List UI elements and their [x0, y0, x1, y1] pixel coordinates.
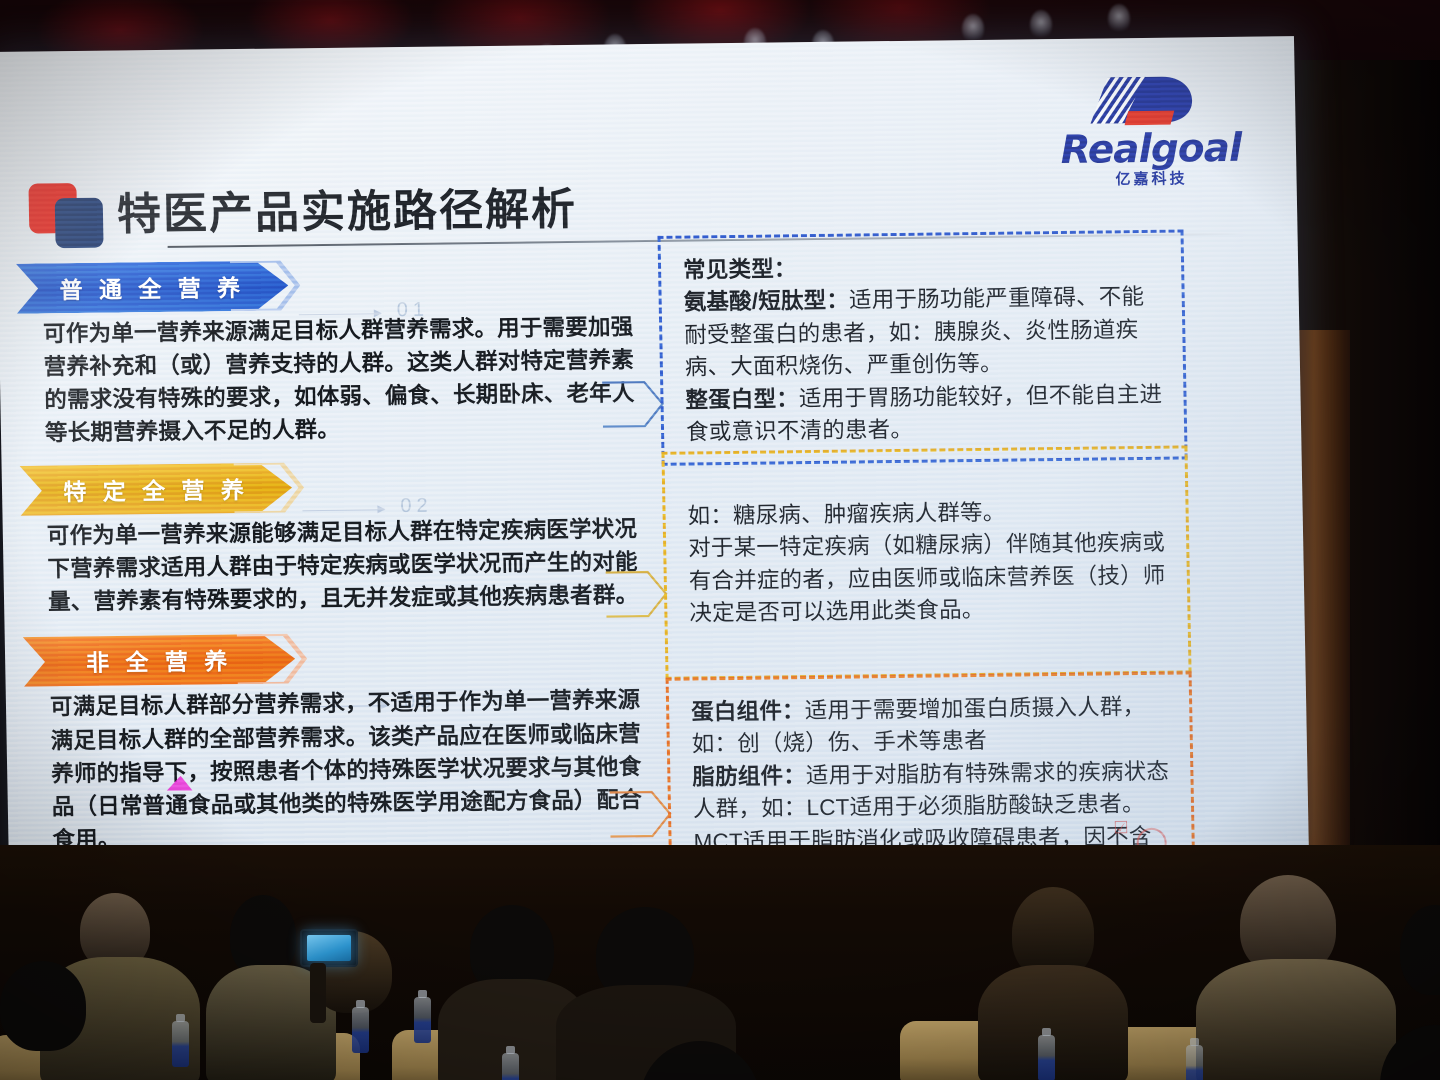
detail-box-1: 常见类型： 氨基酸/短肽型：适用于肠功能严重障碍、不能耐受整蛋白的患者，如：胰腺…: [657, 229, 1187, 466]
section-banner-3-label: 非 全 营 养: [86, 643, 233, 679]
section-banner-2-label: 特 定 全 营 养: [63, 471, 249, 507]
section-body-1: 可作为单一营养来源满足目标人群营养需求。用于需要加强营养补充和（或）营养支持的人…: [0, 306, 645, 450]
connector-chevron-3: [608, 784, 673, 845]
detail-box-3-line-2-label: 脂肪组件：: [692, 763, 806, 789]
attendee-arm: [310, 963, 326, 1023]
detail-box-1-line-2: 氨基酸/短肽型：适用于肠功能严重障碍、不能耐受整蛋白的患者，如：胰腺炎、炎性肠道…: [683, 281, 1165, 384]
section-banner-1-label: 普 通 全 营 养: [59, 269, 245, 305]
detail-box-2-line-2: 对于某一特定疾病（如糖尿病）伴随其他疾病或有合并症的者，应由医师或临床营养医（技…: [688, 527, 1170, 630]
company-logo: Realgoal 亿嘉科技: [1050, 72, 1252, 179]
detail-box-1-line-1-label: 常见类型：: [683, 256, 797, 282]
attendee-head: [0, 961, 86, 1051]
connector-chevron-1: [600, 374, 665, 435]
section-body-2: 可作为单一营养来源能够满足目标人群在特定疾病医学状况下营养需求适用人群由于特定疾…: [3, 508, 649, 619]
detail-box-3-line-1: 蛋白组件：适用于需要增加蛋白质摄入人群，如：创（烧）伤、手术等患者: [691, 691, 1172, 762]
section-banner-2: 特 定 全 营 养: [20, 463, 293, 516]
water-bottle: [352, 1007, 369, 1053]
presentation-slide: Realgoal 亿嘉科技 特医产品实施路径解析 01 02 03: [0, 36, 1309, 874]
logo-wordmark: Realgoal: [1051, 131, 1252, 169]
realgoal-r-icon: [1050, 72, 1251, 132]
water-bottle: [1186, 1045, 1203, 1080]
section-banner-1: 普 通 全 营 养: [16, 260, 289, 313]
attendee-phone: [300, 929, 358, 967]
connector-chevron-2: [603, 564, 668, 625]
detail-box-2: 如：糖尿病、肿瘤疾病人群等。 对于某一特定疾病（如糖尿病）伴随其他疾病或有合并症…: [661, 445, 1191, 679]
auditorium-photo: Realgoal 亿嘉科技 特医产品实施路径解析 01 02 03: [0, 0, 1440, 1080]
projection-screen: Realgoal 亿嘉科技 特医产品实施路径解析 01 02 03: [0, 36, 1309, 882]
water-bottle: [172, 1021, 189, 1067]
detail-box-3-line-1-label: 蛋白组件：: [691, 698, 805, 724]
detail-box-3: 蛋白组件：适用于需要增加蛋白质摄入人群，如：创（烧）伤、手术等患者 脂肪组件：适…: [666, 671, 1196, 873]
detail-box-1-line-2-label: 氨基酸/短肽型：: [683, 288, 849, 315]
page-title: 特医产品实施路径解析: [116, 173, 577, 243]
attendee-head: [1400, 905, 1440, 995]
water-bottle: [414, 997, 431, 1043]
section-banner-3: 非 全 营 养: [23, 634, 296, 687]
left-column: 普 通 全 营 养 可作为单一营养来源满足目标人群营养需求。用于需要加强营养补充…: [0, 256, 669, 857]
phone-screen: [307, 935, 351, 961]
section-group-3: 非 全 营 养 可满足目标人群部分营养需求，不适用于作为单一营养来源满足目标人群…: [5, 629, 669, 856]
detail-box-1-line-3: 整蛋白型：适用于胃肠功能较好，但不能自主进食或意识不清的患者。: [685, 378, 1166, 449]
section-body-3: 可满足目标人群部分营养需求，不适用于作为单一营养来源满足目标人群的全部营养需求。…: [6, 679, 653, 856]
water-bottle: [502, 1053, 519, 1080]
water-bottle: [1038, 1035, 1055, 1080]
audience-area: [0, 845, 1440, 1080]
title-decoration-icon: [28, 183, 105, 248]
detail-box-1-line-3-label: 整蛋白型：: [685, 386, 799, 412]
section-group-1: 普 通 全 营 养 可作为单一营养来源满足目标人群营养需求。用于需要加强营养补充…: [0, 256, 661, 450]
attendee-body: [1196, 959, 1396, 1080]
section-group-2: 特 定 全 营 养 可作为单一营养来源能够满足目标人群在特定疾病医学状况下营养需…: [2, 458, 665, 619]
